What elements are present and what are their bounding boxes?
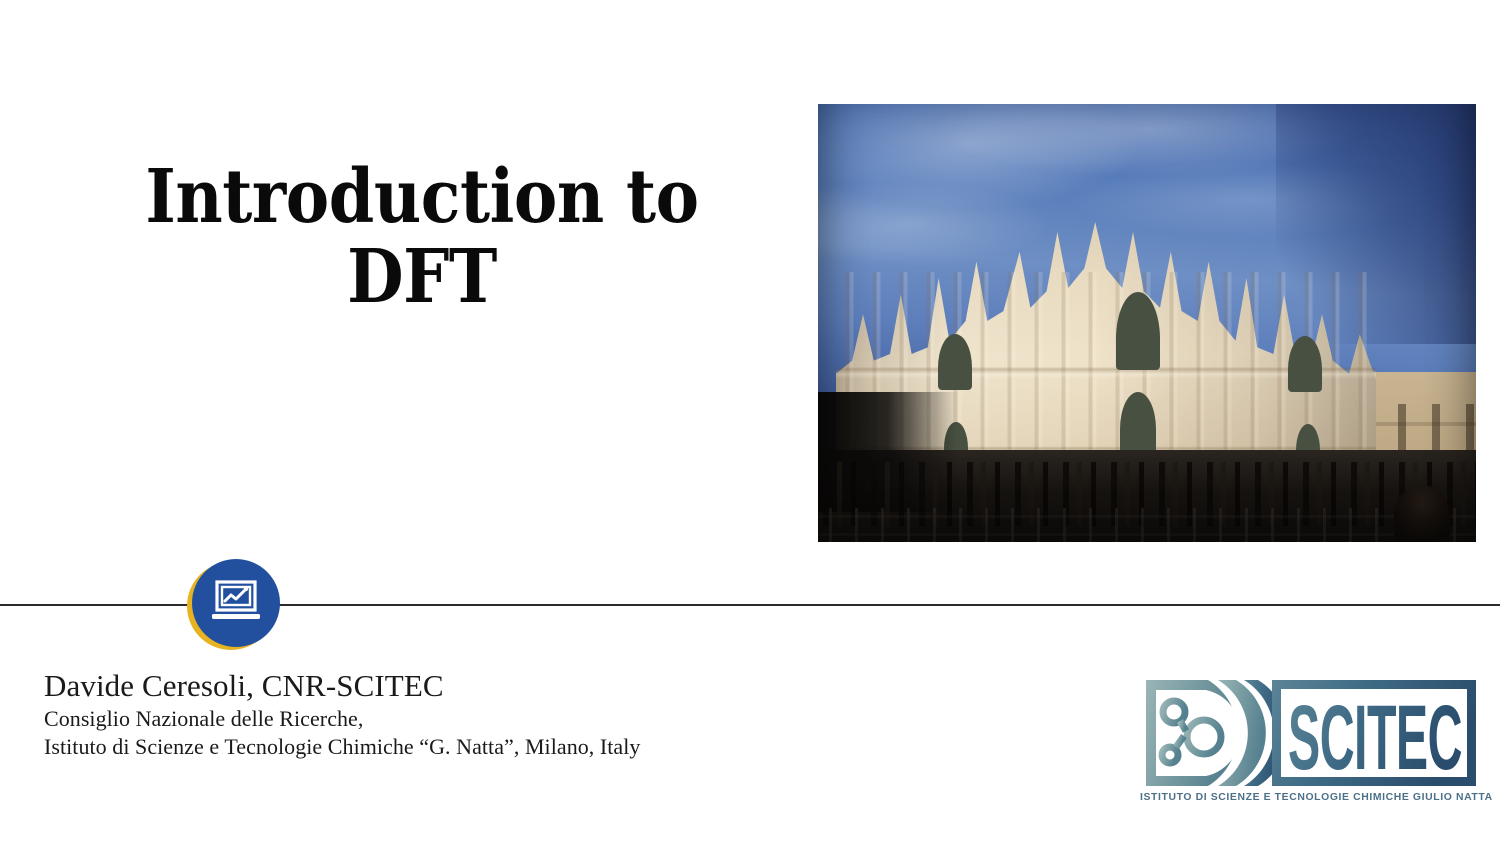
footer-text-block: Davide Ceresoli, CNR-SCITEC Consiglio Na… <box>44 668 844 762</box>
scitec-logo: SCITEC <box>1140 676 1480 806</box>
presentation-slide: Introduction to DFT <box>0 0 1500 844</box>
affiliation-line-1: Consiglio Nazionale delle Ricerche, <box>44 705 844 734</box>
author-name: Davide Ceresoli, CNR-SCITEC <box>44 668 844 705</box>
affiliation-line-2: Istituto di Scienze e Tecnologie Chimich… <box>44 733 844 762</box>
badge <box>192 559 280 647</box>
title-block: Introduction to DFT <box>92 158 752 318</box>
scitec-tagline: ISTITUTO DI SCIENZE E TECNOLOGIE CHIMICH… <box>1140 792 1484 803</box>
page-title: Introduction to DFT <box>132 158 713 318</box>
badge-circle <box>192 559 280 647</box>
scitec-wordmark-text: SCITEC <box>1288 687 1462 789</box>
laptop-chart-icon <box>210 579 262 628</box>
milan-duomo-photo <box>818 104 1476 542</box>
photo-vignette <box>818 104 1476 542</box>
